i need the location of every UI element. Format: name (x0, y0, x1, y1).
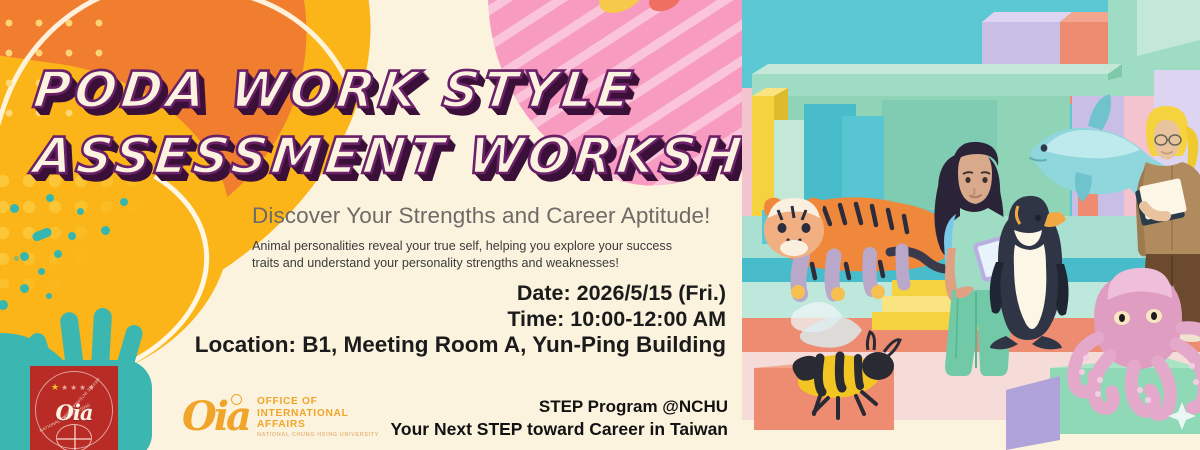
page-title: PODA WORK STYLE ASSESSMENT WORKSHOP (34, 58, 734, 188)
mint-ledge-top (752, 64, 1122, 74)
body-line-1: Animal personalities reveal your true se… (252, 238, 672, 255)
museum-scene-illustration (742, 0, 1200, 450)
lavender-block-top (982, 12, 1072, 22)
event-details: Date: 2026/5/15 (Fri.) Time: 10:00-12:00… (0, 280, 726, 358)
title-line-1: PODA WORK STYLE (30, 58, 738, 122)
event-date: Date: 2026/5/15 (Fri.) (0, 280, 726, 306)
subtitle-text: Discover Your Strengths and Career Aptit… (252, 203, 710, 229)
seal-gold-star-icon: ★ (51, 382, 61, 392)
poster-canvas: NATIONAL CHUNG HSING OFFICE INTERNATIONA… (0, 0, 1200, 450)
step-program-tagline: Your Next STEP toward Career in Taiwan (0, 418, 728, 441)
event-time: Time: 10:00-12:00 AM (0, 306, 726, 332)
seal-stars: ★★★★★ (30, 382, 118, 393)
body-description: Animal personalities reveal your true se… (252, 238, 672, 271)
body-line-2: traits and understand your personality s… (252, 255, 672, 272)
title-line-2: ASSESSMENT WORKSHOP (30, 124, 738, 188)
teal-panel-mid (842, 116, 884, 208)
step-program-footer: STEP Program @NCHU Your Next STEP toward… (0, 396, 728, 441)
left-content-panel: NATIONAL CHUNG HSING OFFICE INTERNATIONA… (0, 0, 742, 450)
event-location: Location: B1, Meeting Room A, Yun-Ping B… (0, 332, 726, 358)
pink-wall-left (742, 88, 752, 228)
illustration-svg (742, 0, 1200, 450)
mint-ledge (752, 74, 1108, 96)
step-program-title: STEP Program @NCHU (0, 396, 728, 418)
